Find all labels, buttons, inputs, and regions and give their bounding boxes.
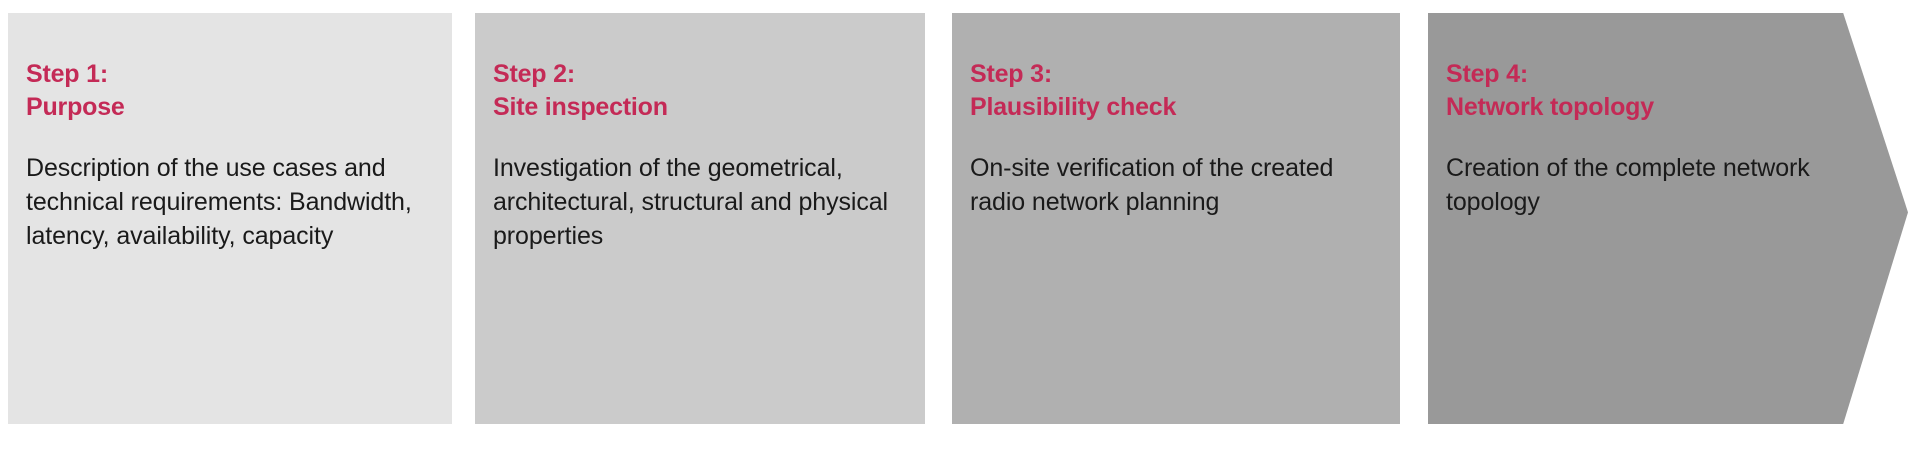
step-1-label: Step 1: xyxy=(26,60,108,88)
step-1-heading: Step 1: Purpose xyxy=(26,58,430,124)
step-2-description: Investigation of the geometrical, archit… xyxy=(493,124,903,253)
step-2-label: Step 2: xyxy=(493,60,575,88)
step-3-description: On-site verification of the created radi… xyxy=(970,124,1378,219)
step-4-name: Network topology xyxy=(1446,91,1818,124)
step-3-heading: Step 3: Plausibility check xyxy=(970,58,1378,124)
step-4-description: Creation of the complete network topolog… xyxy=(1446,124,1818,219)
step-3-name: Plausibility check xyxy=(970,91,1378,124)
process-diagram: Step 1: Purpose Description of the use c… xyxy=(0,0,1920,450)
step-2-heading: Step 2: Site inspection xyxy=(493,58,903,124)
step-3-label: Step 3: xyxy=(970,60,1052,88)
step-2-name: Site inspection xyxy=(493,91,903,124)
step-panel-4[interactable]: Step 4: Network topology Creation of the… xyxy=(1428,13,1908,424)
step-4-label: Step 4: xyxy=(1446,60,1528,88)
step-panel-2[interactable]: Step 2: Site inspection Investigation of… xyxy=(475,13,925,424)
step-1-name: Purpose xyxy=(26,91,430,124)
step-panel-3[interactable]: Step 3: Plausibility check On-site verif… xyxy=(952,13,1400,424)
step-panel-1[interactable]: Step 1: Purpose Description of the use c… xyxy=(8,13,452,424)
step-4-heading: Step 4: Network topology xyxy=(1446,58,1818,124)
step-1-description: Description of the use cases and technic… xyxy=(26,124,430,253)
